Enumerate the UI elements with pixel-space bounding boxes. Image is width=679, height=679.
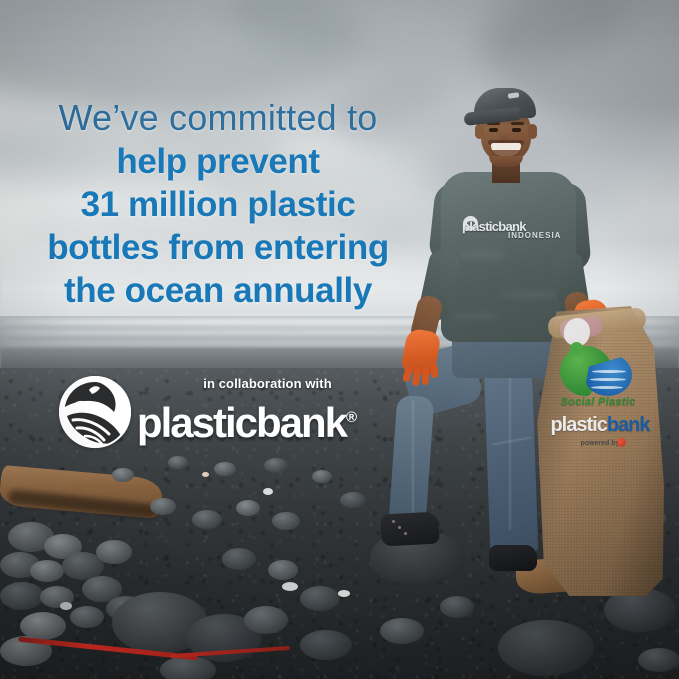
pebble [268,560,298,580]
pebble [70,606,104,628]
pebble [0,582,44,610]
glove-finger [431,364,439,378]
boot-eyelet [404,532,407,535]
pebble [300,630,352,660]
right-eyebrow [511,122,524,125]
social-plastic-label: Social Plastic [552,396,644,408]
pebble [300,586,340,611]
shirt-fold [500,290,560,299]
sack-plasticbank-wordmark: plasticbank [548,414,652,437]
white-shell-fragment [202,472,209,477]
large-stone [498,620,594,676]
logo-wave-line [590,378,626,381]
pebble [222,548,256,570]
pebble [244,606,288,634]
right-eye [512,128,521,132]
pebble [236,500,260,516]
logo-wave-line [592,370,626,373]
boot-eyelet [398,526,401,529]
sack-brand-part2: bank [607,414,650,436]
powered-by-label: powered by [556,440,644,447]
collaboration-logo-block: in collaboration with plasticbank® [54,372,374,454]
boot-eyelet [392,520,395,523]
pebble [30,560,64,582]
pebble [168,456,188,469]
pebble [440,596,474,618]
headline-line-3: 31 million plastic [14,183,422,226]
left-boot [380,512,440,547]
pebble [150,498,176,515]
right-boot [489,545,537,571]
white-shell-fragment [60,602,72,610]
headline-block: We’ve committed to help prevent 31 milli… [14,96,422,312]
collaboration-eyebrow: in collaboration with [160,376,375,391]
pebble [638,648,679,672]
social-plastic-logo-icon [560,340,632,398]
jean-seam [412,400,414,515]
pebble [112,468,134,482]
pebble [214,462,236,476]
pebble [272,512,300,530]
headline-line-1: We’ve committed to [14,96,422,140]
right-leg-jeans [484,355,539,557]
headline-line-5: the ocean annually [14,269,422,312]
logo-person-head [570,342,583,355]
pebble [96,540,132,564]
logo-wave-line [591,386,623,389]
poster-canvas: plasticbank INDONESIA Social Plastic pla… [0,0,679,679]
shirt-fold [452,312,502,320]
shirt-fold [460,250,506,260]
pebble [340,492,366,508]
glove-finger [422,368,430,385]
headline-line-4: bottles from entering [14,226,422,269]
powered-by-icon [617,438,626,447]
right-ear [528,124,537,139]
sack-brand-part1: plastic [550,414,606,436]
left-eye [489,128,498,132]
jean-seam [509,370,511,530]
plasticbank-brand-text: plasticbank [137,399,346,446]
white-shell-fragment [263,488,273,495]
headline-line-2: help prevent [14,140,422,183]
registered-trademark-icon: ® [346,409,357,426]
pebble [380,618,424,644]
pebble [312,470,332,483]
left-ear [475,124,484,139]
white-shell-fragment [338,590,350,597]
plasticbank-wordmark: plasticbank® [116,394,378,447]
white-shell-fragment [282,582,298,591]
pebble [264,458,288,473]
shirt-country-label: INDONESIA [508,231,561,240]
pebble [192,510,222,529]
